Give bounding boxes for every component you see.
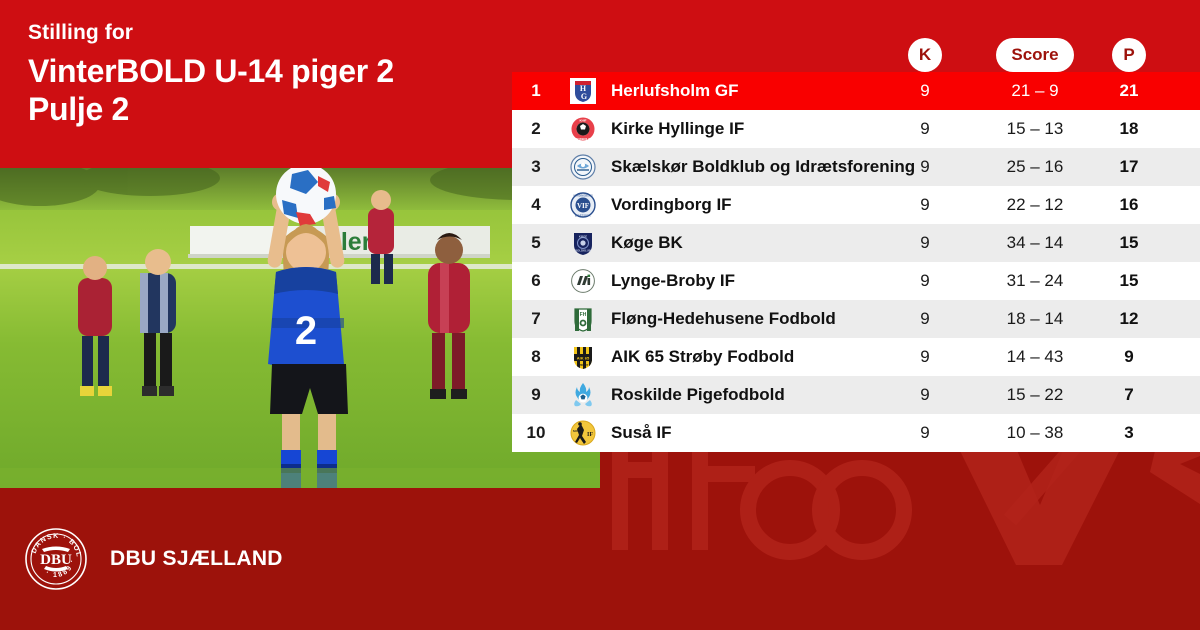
floeng-hedehusene-logo: FH [560,306,606,332]
row-points: 18 [1112,119,1146,139]
row-points: 12 [1112,309,1146,329]
row-rank: 1 [512,81,560,101]
row-team-name: Roskilde Pigefodbold [606,385,1200,405]
lynge-broby-if-logo [560,268,606,294]
row-points: 16 [1112,195,1146,215]
table-row[interactable]: 3 Skælskør Boldklub og Idrætsforening 9 … [512,148,1200,186]
row-team-name: Fløng-Hedehusene Fodbold [606,309,1200,329]
table-row[interactable]: 7 FH Fløng-Hedehusene Fodbold 9 18 – 14 … [512,300,1200,338]
table-row[interactable]: 1 H G Herlufsholm GF 9 21 – 9 21 [512,72,1200,110]
svg-text:SUSÅ: SUSÅ [573,428,582,433]
row-rank: 7 [512,309,560,329]
dbu-seal-logo: DANSK · BOLDSPIL · UNION · 1889 · DBU [24,527,88,591]
row-team-name: Køge BK [606,233,1200,253]
svg-text:KØGE: KØGE [579,235,587,239]
kirke-hyllinge-if-logo: KHIF FODBOLD [560,116,606,142]
svg-text:STRØBY: STRØBY [578,363,589,367]
row-score: 31 – 24 [996,271,1074,291]
footer-bar: DANSK · BOLDSPIL · UNION · 1889 · DBU DB… [0,488,1200,630]
koege-bk-logo: KØGE BOLDKLUB [560,230,606,256]
row-played: 9 [908,385,942,405]
svg-text:IF: IF [587,432,593,438]
table-row[interactable]: 9 Roskilde Pigefodbold 9 15 – 22 7 [512,376,1200,414]
row-played: 9 [908,271,942,291]
svg-text:FH: FH [580,312,587,318]
row-rank: 9 [512,385,560,405]
row-rank: 2 [512,119,560,139]
row-team-name: Skælskør Boldklub og Idrætsforening [606,157,1200,177]
row-played: 9 [908,347,942,367]
header-text-block: Stilling for VinterBOLD U-14 piger 2 Pul… [28,20,498,128]
skaelskoer-bi-logo [560,154,606,180]
table-row[interactable]: 4 VIF VORDINGBORG IDRÆTSFOR. Vordingborg… [512,186,1200,224]
column-header-points: P [1112,38,1146,72]
row-played: 9 [908,157,942,177]
row-played: 9 [908,233,942,253]
svg-text:G: G [581,92,587,101]
row-score: 34 – 14 [996,233,1074,253]
row-score: 15 – 22 [996,385,1074,405]
row-played: 9 [908,195,942,215]
row-rank: 8 [512,347,560,367]
column-header-score: Score [996,38,1074,72]
row-score: 22 – 12 [996,195,1074,215]
row-points: 21 [1112,81,1146,101]
table-row[interactable]: 5 KØGE BOLDKLUB Køge BK 9 34 – 14 15 [512,224,1200,262]
row-rank: 6 [512,271,560,291]
vordingborg-if-logo: VIF VORDINGBORG IDRÆTSFOR. [560,192,606,218]
aik-65-stroeby-logo: AIK 65 STRØBY [560,344,606,370]
table-column-headers: K Score P [512,38,1200,76]
header-title-line-1: VinterBOLD U-14 piger 2 [28,52,498,90]
table-row[interactable]: 2 KHIF FODBOLD Kirke Hyllinge IF 9 15 – … [512,110,1200,148]
row-points: 7 [1112,385,1146,405]
susaa-if-logo: IF SUSÅ [560,420,606,446]
row-score: 21 – 9 [996,81,1074,101]
row-team-name: AIK 65 Strøby Fodbold [606,347,1200,367]
header-kicker: Stilling for [28,20,498,46]
row-score: 14 – 43 [996,347,1074,367]
match-photo: alleru [0,168,600,488]
svg-text:DBU: DBU [40,552,72,568]
row-played: 9 [908,119,942,139]
svg-text:AIK 65: AIK 65 [577,355,590,360]
column-header-played: K [908,38,942,72]
svg-text:FODBOLD: FODBOLD [576,137,592,141]
row-score: 18 – 14 [996,309,1074,329]
herlufsholm-gf-logo: H G [560,78,606,104]
svg-text:IDRÆTSFOR.: IDRÆTSFOR. [575,213,592,217]
row-rank: 3 [512,157,560,177]
table-row[interactable]: 8 [512,338,1200,376]
svg-text:VORDINGBORG: VORDINGBORG [573,194,593,198]
row-score: 25 – 16 [996,157,1074,177]
standings-table: 1 H G Herlufsholm GF 9 21 – 9 21 2 [512,72,1200,452]
row-played: 9 [908,81,942,101]
row-rank: 10 [512,423,560,443]
roskilde-pigefodbold-logo [560,382,606,408]
row-team-name: Suså IF [606,423,1200,443]
svg-text:VIF: VIF [577,202,589,210]
row-team-name: Herlufsholm GF [606,81,1200,101]
row-points: 15 [1112,271,1146,291]
row-rank: 5 [512,233,560,253]
table-row[interactable]: 10 IF SUSÅ Suså IF 9 10 – 38 3 [512,414,1200,452]
row-points: 17 [1112,157,1146,177]
row-rank: 4 [512,195,560,215]
row-played: 9 [908,309,942,329]
row-score: 15 – 13 [996,119,1074,139]
row-points: 15 [1112,233,1146,253]
jersey-number: 2 [295,309,317,353]
table-row[interactable]: 6 Lynge-Broby IF 9 31 – 24 15 [512,262,1200,300]
standings-graphic: Stilling for VinterBOLD U-14 piger 2 Pul… [0,0,1200,630]
svg-text:BOLDKLUB: BOLDKLUB [575,249,591,253]
footer-label: DBU SJÆLLAND [110,547,283,571]
header-title-line-2: Pulje 2 [28,90,498,128]
row-team-name: Lynge-Broby IF [606,271,1200,291]
svg-text:KHIF: KHIF [580,118,587,122]
row-played: 9 [908,423,942,443]
row-points: 9 [1112,347,1146,367]
row-points: 3 [1112,423,1146,443]
row-team-name: Vordingborg IF [606,195,1200,215]
row-team-name: Kirke Hyllinge IF [606,119,1200,139]
row-score: 10 – 38 [996,423,1074,443]
